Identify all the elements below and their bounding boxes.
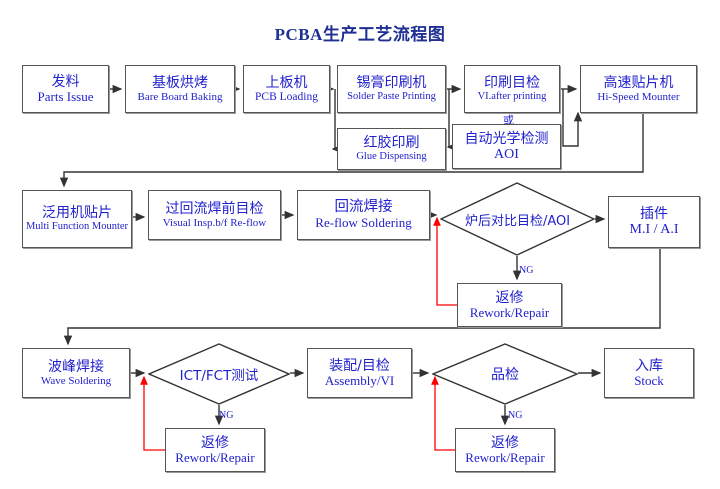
node-label-en: Multi Function Mounter	[26, 221, 128, 233]
node-label-cn: 红胶印刷	[364, 135, 420, 151]
node-label-en: Wave Soldering	[41, 375, 111, 387]
flowchart-canvas: PCBA生产工艺流程图	[0, 0, 720, 489]
node-label-en: Visual Insp.b/f Re-flow	[163, 217, 267, 229]
node-glue-dispensing[interactable]: 红胶印刷 Glue Dispensing	[337, 128, 446, 170]
node-label-cn: 波峰焊接	[48, 359, 104, 375]
node-hi-speed-mounter[interactable]: 高速贴片机 Hi-Speed Mounter	[580, 65, 697, 113]
node-label-cn: 泛用机贴片	[42, 205, 112, 221]
node-label-en: Re-flow Soldering	[315, 216, 411, 231]
node-label-cn: 返修	[491, 435, 519, 451]
ng-label-ict: NG	[219, 410, 233, 421]
node-label-en: Bare Board Baking	[138, 91, 223, 103]
node-label-cn: 锡膏印刷机	[357, 75, 427, 91]
node-label-en: Solder Paste Printing	[347, 91, 436, 103]
node-label-cn: 印刷目检	[484, 75, 540, 91]
node-label-cn: 发料	[52, 74, 80, 90]
node-label-en: Stock	[634, 374, 664, 389]
node-label-en: Rework/Repair	[175, 451, 254, 466]
node-rework-qc[interactable]: 返修 Rework/Repair	[455, 428, 555, 472]
node-stock[interactable]: 入库 Stock	[604, 348, 694, 398]
node-vi-after-printing[interactable]: 印刷目检 VI.after printing	[464, 65, 560, 113]
ng-label-reflow: NG	[519, 265, 533, 276]
node-label-cn: 回流焊接	[335, 199, 393, 216]
node-label-cn: 装配/目检	[329, 358, 390, 374]
node-rework-reflow[interactable]: 返修 Rework/Repair	[457, 283, 562, 327]
node-label-en: Glue Dispensing	[356, 151, 426, 163]
node-label-en: Assembly/VI	[325, 374, 394, 389]
rework-connectors	[144, 218, 457, 450]
node-assembly-vi[interactable]: 装配/目检 Assembly/VI	[307, 348, 412, 398]
node-rework-ict[interactable]: 返修 Rework/Repair	[165, 428, 265, 472]
node-parts-issue[interactable]: 发料 Parts Issue	[22, 65, 109, 113]
node-label-cn: 过回流焊前目检	[166, 201, 264, 217]
node-mi-ai[interactable]: 插件 M.I / A.I	[608, 196, 700, 248]
diamond-label-final-qc: 品检	[432, 343, 578, 405]
node-label-en: Hi-Speed Mounter	[597, 91, 679, 103]
node-label-cn: 入库	[635, 358, 663, 374]
node-label-en: Rework/Repair	[465, 451, 544, 466]
node-multi-function-mounter[interactable]: 泛用机贴片 Multi Function Mounter	[22, 190, 132, 248]
node-label-cn: 基板烘烤	[152, 75, 208, 91]
node-bare-board-baking[interactable]: 基板烘烤 Bare Board Baking	[125, 65, 235, 113]
node-aoi[interactable]: 自动光学检测 AOI	[452, 124, 561, 169]
ng-label-qc: NG	[508, 410, 522, 421]
node-label-cn: 插件	[640, 206, 668, 222]
diamond-label-post-oven-vi-aoi: 炉后对比目检/AOI	[440, 182, 595, 256]
node-wave-soldering[interactable]: 波峰焊接 Wave Soldering	[22, 348, 130, 398]
node-reflow-soldering[interactable]: 回流焊接 Re-flow Soldering	[297, 190, 430, 240]
node-label-en: Rework/Repair	[470, 306, 549, 321]
node-label-en: VI.after printing	[478, 91, 547, 103]
node-label-en: AOI	[494, 147, 519, 163]
node-solder-paste-printing[interactable]: 锡膏印刷机 Solder Paste Printing	[337, 65, 446, 113]
diamond-label-ict-fct-test: ICT/FCT测试	[148, 343, 290, 405]
node-label-cn: 返修	[201, 435, 229, 451]
node-label-en: M.I / A.I	[630, 222, 679, 238]
node-pcb-loading[interactable]: 上板机 PCB Loading	[243, 65, 330, 113]
node-label-cn: 返修	[496, 290, 524, 306]
node-visual-insp-before-reflow[interactable]: 过回流焊前目检 Visual Insp.b/f Re-flow	[148, 190, 281, 240]
node-label-cn: 自动光学检测	[465, 131, 549, 147]
node-label-en: PCB Loading	[255, 91, 318, 104]
node-label-en: Parts Issue	[38, 90, 94, 105]
node-label-cn: 上板机	[266, 75, 308, 91]
node-label-cn: 高速贴片机	[604, 75, 674, 91]
